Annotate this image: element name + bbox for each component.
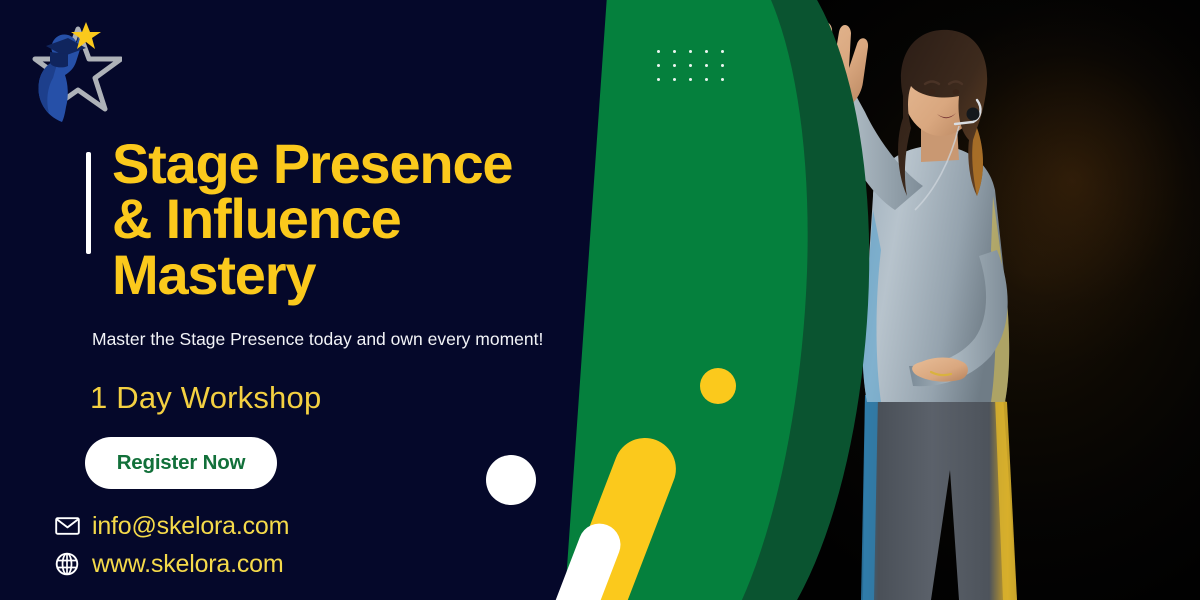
workshop-duration-label: 1 Day Workshop xyxy=(90,380,321,416)
page-title: Stage Presence & Influence Mastery xyxy=(112,136,512,302)
subtitle-text: Master the Stage Presence today and own … xyxy=(92,328,572,351)
contact-email-row[interactable]: info@skelora.com xyxy=(54,507,289,545)
contact-website-row[interactable]: www.skelora.com xyxy=(54,545,289,583)
content-column: Stage Presence & Influence Mastery Maste… xyxy=(0,0,660,600)
event-promo-banner: Stage Presence & Influence Mastery Maste… xyxy=(0,0,1200,600)
website-url: www.skelora.com xyxy=(92,550,284,579)
contact-block: info@skelora.com www.skelora.com xyxy=(54,507,289,583)
email-address: info@skelora.com xyxy=(92,512,289,541)
graduate-star-logo xyxy=(16,12,122,132)
headline-block: Stage Presence & Influence Mastery xyxy=(86,136,512,302)
globe-icon xyxy=(54,551,80,577)
register-now-button[interactable]: Register Now xyxy=(85,437,277,489)
dot-grid-pattern xyxy=(657,50,737,92)
white-accent-bar xyxy=(86,152,91,254)
yellow-circle-shape xyxy=(700,368,736,404)
envelope-icon xyxy=(54,513,80,539)
